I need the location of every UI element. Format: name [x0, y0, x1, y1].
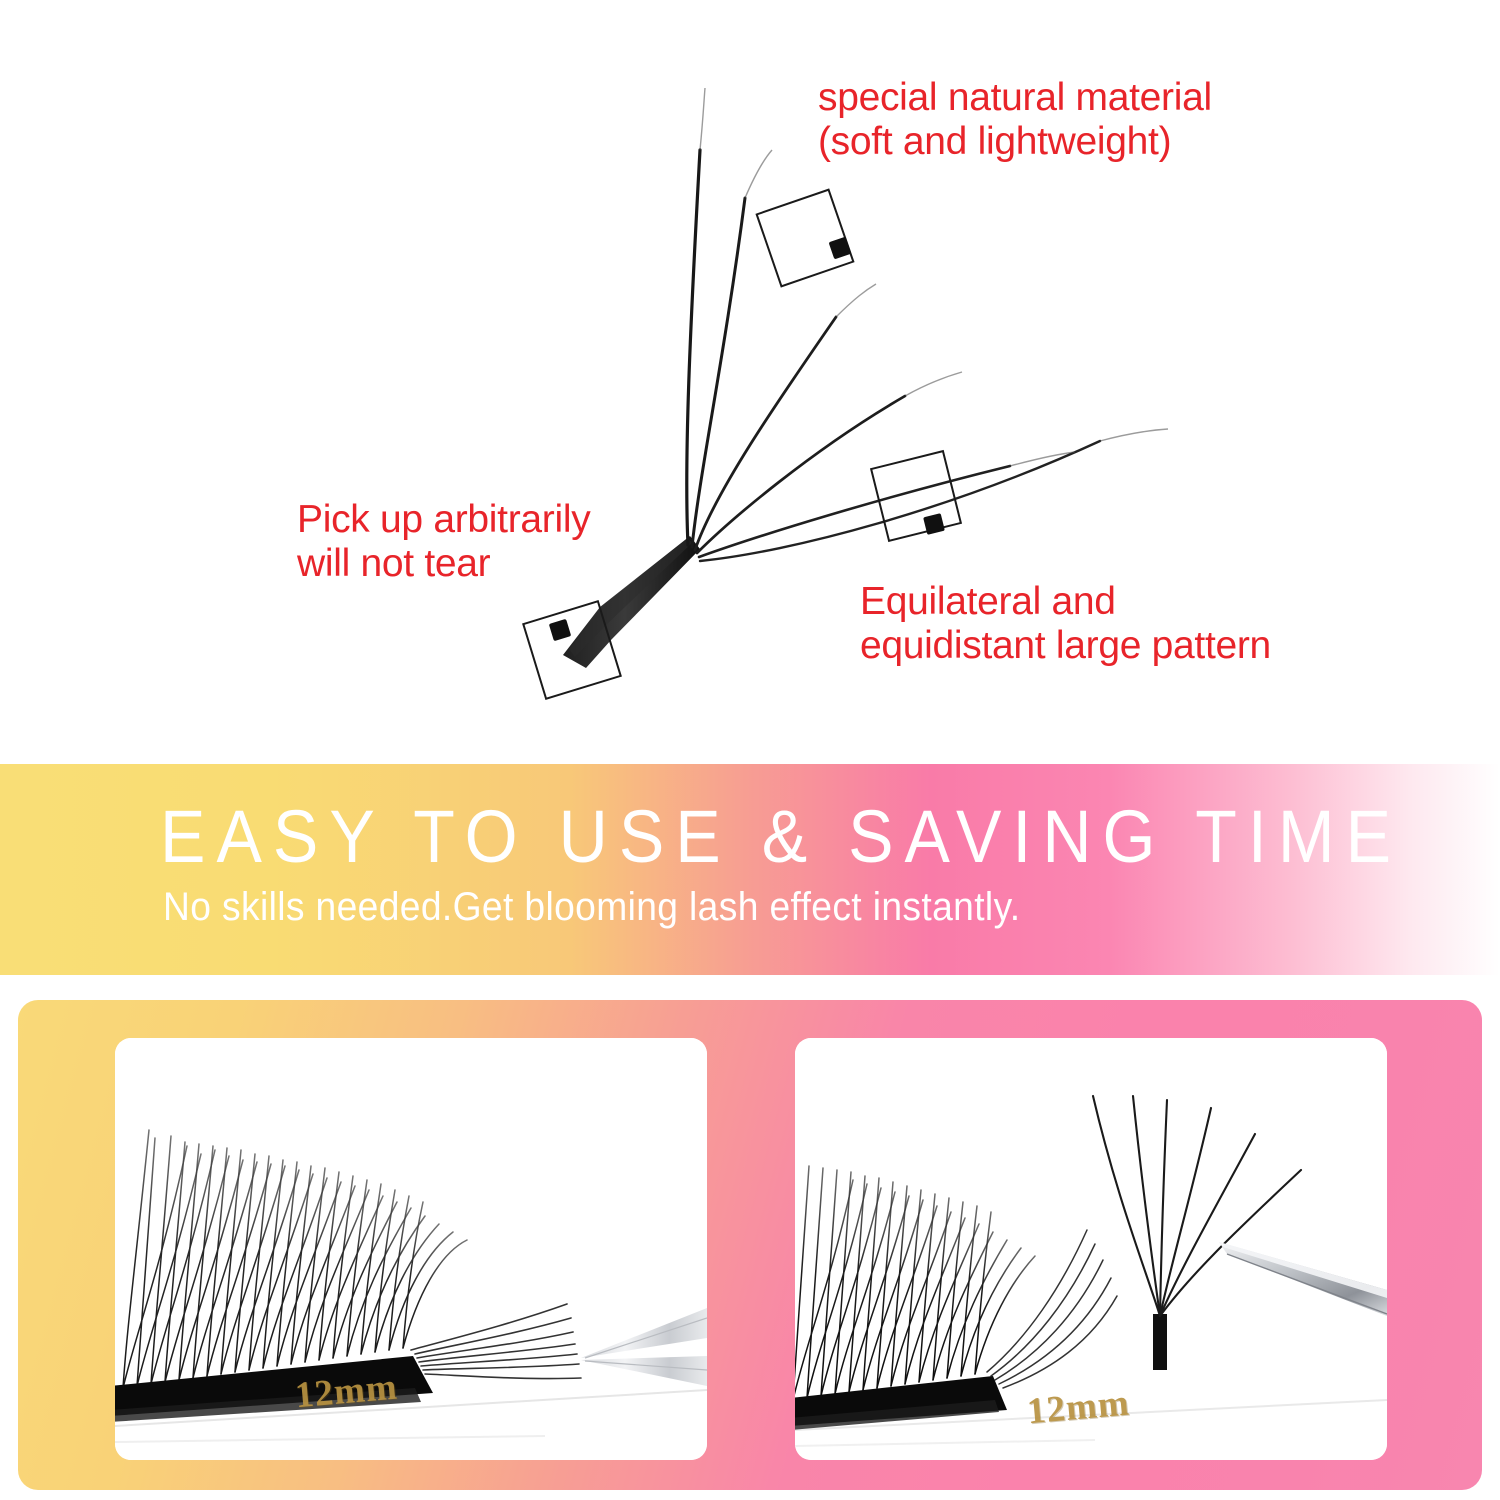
marker-square-material — [757, 190, 854, 287]
diagram-section: special natural material (soft and light… — [0, 0, 1500, 764]
photo-card-tray-pickup: 12mm — [795, 1038, 1387, 1460]
banner-subtitle: No skills needed.Get blooming lash effec… — [163, 885, 1020, 930]
photo-tray-closeup-image — [115, 1038, 707, 1460]
gold-size-label-left: 12mm — [293, 1366, 399, 1418]
photo-card-tray-closeup: 12mm — [115, 1038, 707, 1460]
callout-pick-up-arbitrarily: Pick up arbitrarily will not tear — [297, 498, 590, 585]
easy-to-use-banner: EASY TO USE & SAVING TIME No skills need… — [0, 764, 1500, 975]
fan-fibers — [687, 150, 1100, 561]
photo-gradient-band: 12mm — [18, 1000, 1482, 1490]
lash-fan-illustration — [0, 0, 1500, 764]
callout-equilateral-equidistant: Equilateral and equidistant large patter… — [860, 580, 1271, 667]
marker-square-equilateral — [871, 451, 961, 541]
callout-special-natural-material: special natural material (soft and light… — [818, 76, 1212, 163]
gold-size-label-right: 12mm — [1025, 1382, 1131, 1434]
banner-title: EASY TO USE & SAVING TIME — [160, 794, 1402, 879]
